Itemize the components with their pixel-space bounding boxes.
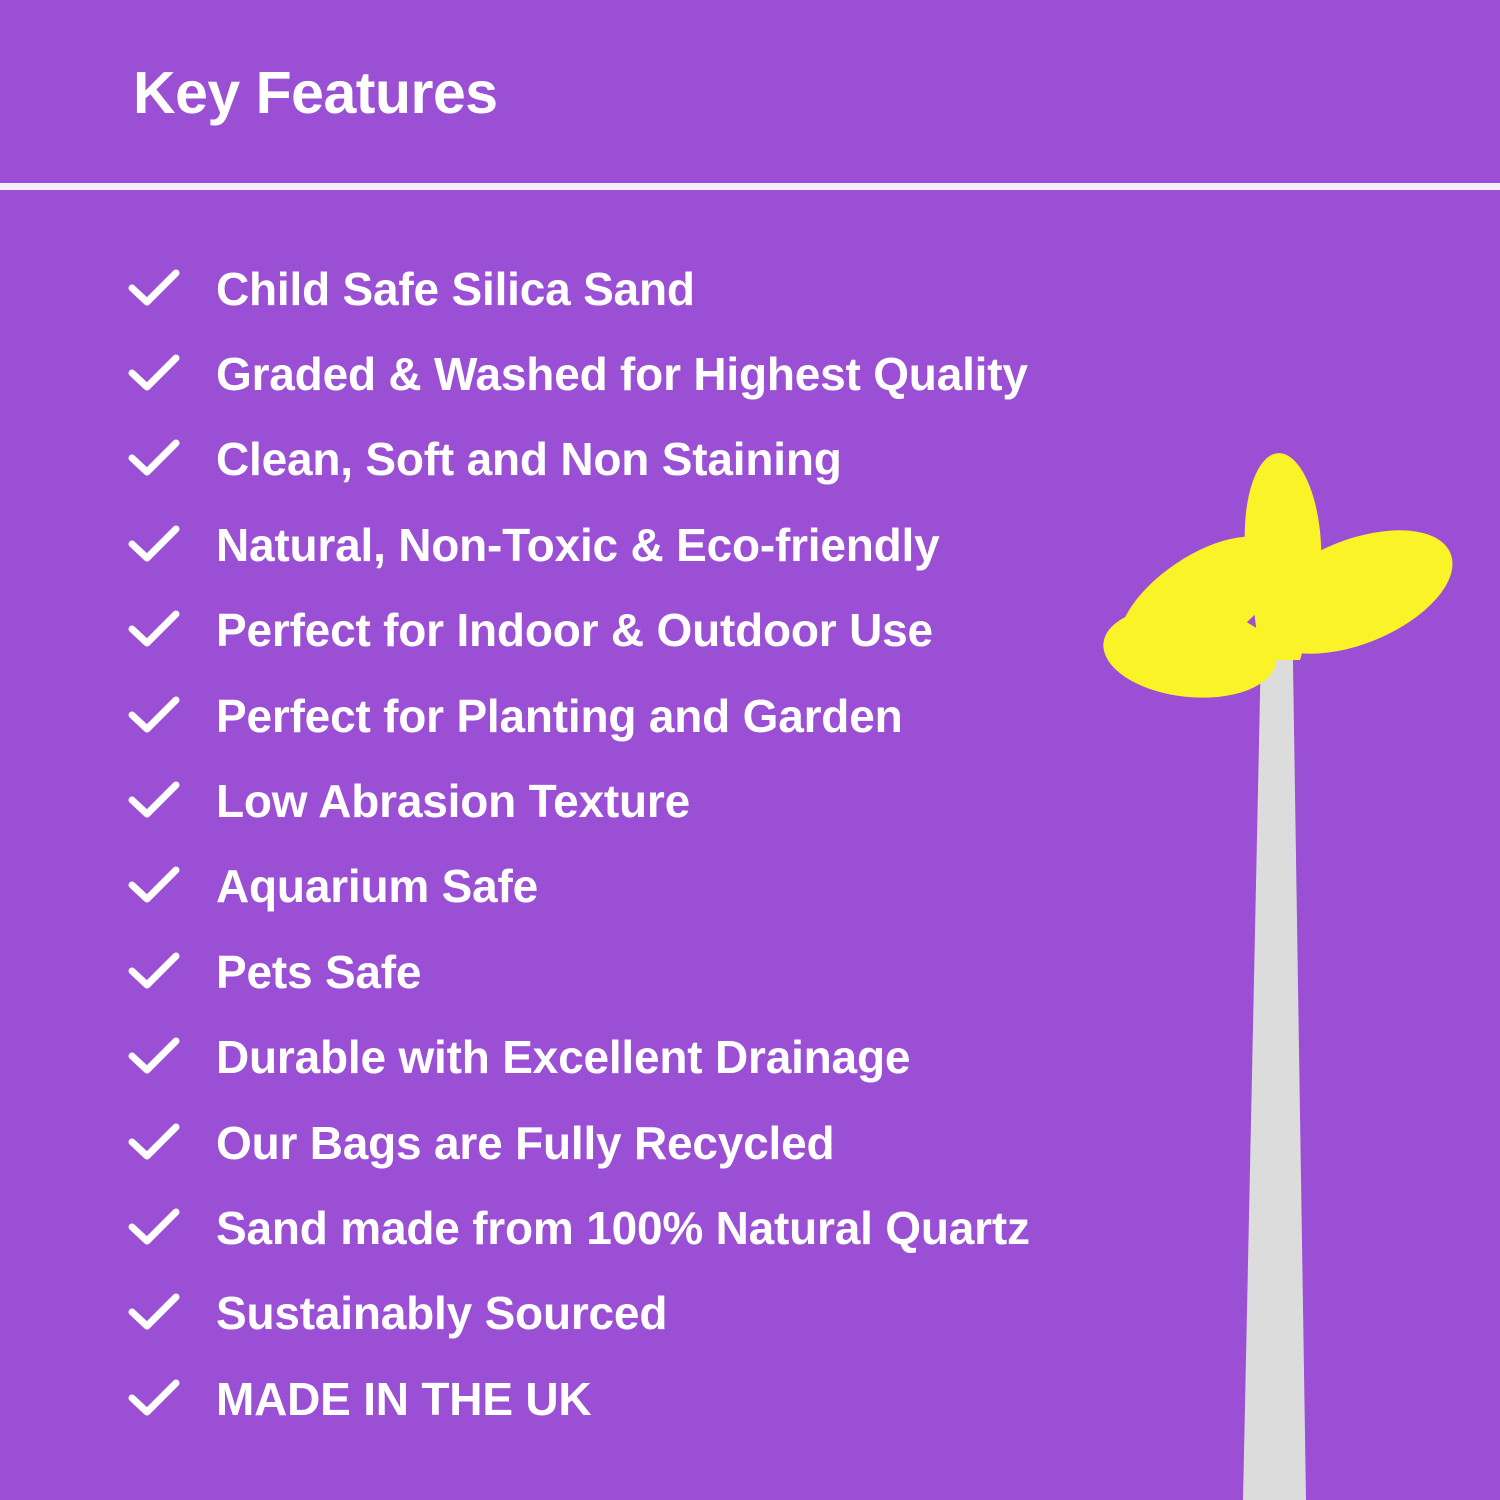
feature-item-label: Aquarium Safe: [216, 861, 538, 911]
check-icon: [128, 1291, 180, 1335]
header: Key Features: [0, 0, 1500, 185]
header-divider: [0, 183, 1500, 190]
feature-item: Durable with Excellent Drainage: [0, 1015, 1500, 1100]
feature-item: Perfect for Indoor & Outdoor Use: [0, 588, 1500, 673]
check-icon: [128, 1035, 180, 1079]
feature-item-label: Sustainably Sourced: [216, 1288, 667, 1338]
check-icon: [128, 950, 180, 994]
check-icon: [128, 1121, 180, 1165]
key-features-panel: Key Features Child Safe Silica SandGrade…: [0, 0, 1500, 1500]
check-icon: [128, 608, 180, 652]
check-icon: [128, 352, 180, 396]
feature-item-label: Our Bags are Fully Recycled: [216, 1118, 834, 1168]
feature-item-label: Graded & Washed for Highest Quality: [216, 349, 1028, 399]
feature-item: Aquarium Safe: [0, 844, 1500, 929]
feature-item-label: Perfect for Indoor & Outdoor Use: [216, 605, 933, 655]
feature-item: Pets Safe: [0, 929, 1500, 1014]
feature-item-label: Pets Safe: [216, 947, 421, 997]
feature-item: Sustainably Sourced: [0, 1271, 1500, 1356]
feature-item: Sand made from 100% Natural Quartz: [0, 1185, 1500, 1270]
feature-item: Graded & Washed for Highest Quality: [0, 331, 1500, 416]
check-icon: [128, 267, 180, 311]
check-icon: [128, 779, 180, 823]
feature-item-label: Natural, Non-Toxic & Eco-friendly: [216, 520, 940, 570]
check-icon: [128, 437, 180, 481]
feature-item-label: Clean, Soft and Non Staining: [216, 434, 842, 484]
feature-item-label: Perfect for Planting and Garden: [216, 691, 902, 741]
check-icon: [128, 1377, 180, 1421]
check-icon: [128, 694, 180, 738]
feature-item: Natural, Non-Toxic & Eco-friendly: [0, 502, 1500, 587]
feature-item-label: Sand made from 100% Natural Quartz: [216, 1203, 1030, 1253]
feature-item: Clean, Soft and Non Staining: [0, 417, 1500, 502]
feature-item: MADE IN THE UK: [0, 1356, 1500, 1441]
feature-item-label: Durable with Excellent Drainage: [216, 1032, 910, 1082]
feature-item: Our Bags are Fully Recycled: [0, 1100, 1500, 1185]
feature-item-label: MADE IN THE UK: [216, 1374, 591, 1424]
feature-item-label: Child Safe Silica Sand: [216, 264, 695, 314]
check-icon: [128, 523, 180, 567]
feature-list: Child Safe Silica SandGraded & Washed fo…: [0, 246, 1500, 1441]
page-title: Key Features: [133, 58, 498, 128]
check-icon: [128, 864, 180, 908]
feature-item-label: Low Abrasion Texture: [216, 776, 690, 826]
feature-item: Perfect for Planting and Garden: [0, 673, 1500, 758]
feature-item: Low Abrasion Texture: [0, 758, 1500, 843]
feature-item: Child Safe Silica Sand: [0, 246, 1500, 331]
check-icon: [128, 1206, 180, 1250]
